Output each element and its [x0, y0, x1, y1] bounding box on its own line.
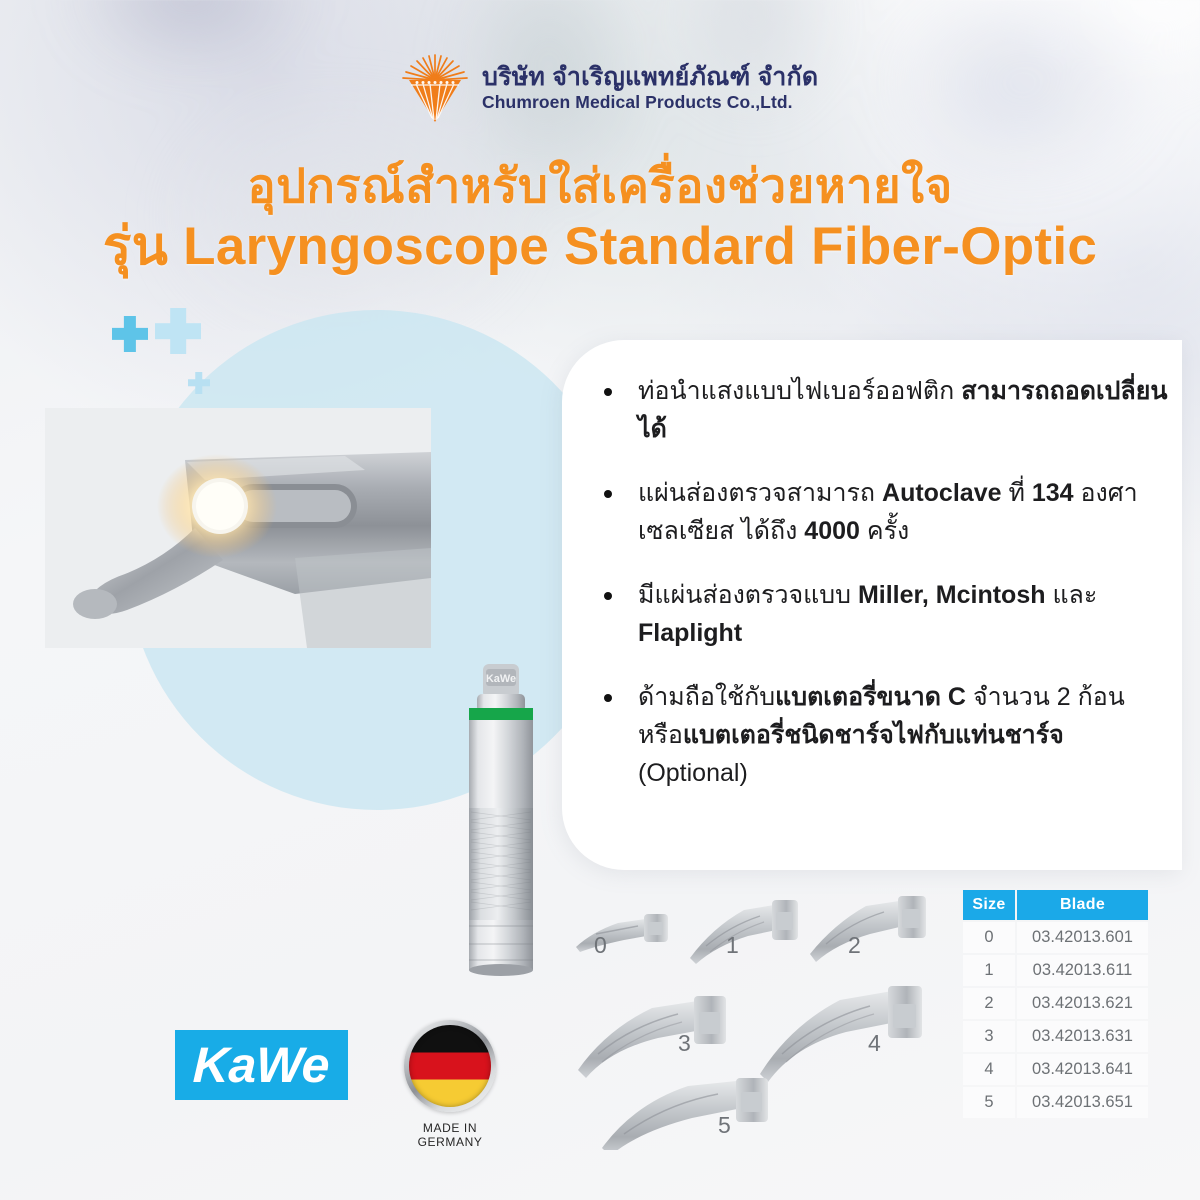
plus-cross-icon: [155, 308, 201, 354]
feature-text-bold: 4000: [804, 517, 860, 545]
cell-blade: 03.42013.651: [1017, 1087, 1148, 1118]
table-row: 3 03.42013.631: [963, 1021, 1148, 1052]
cell-size: 4: [963, 1054, 1015, 1085]
cell-blade: 03.42013.641: [1017, 1054, 1148, 1085]
blade-2: [810, 896, 926, 962]
feature-list: ท่อนำแสงแบบไฟเบอร์ออฟติก สามารถถอดเปลี่ย…: [580, 372, 1176, 818]
title-line-2: รุ่น Laryngoscope Standard Fiber-Optic: [0, 217, 1200, 276]
cell-size: 5: [963, 1087, 1015, 1118]
poster-canvas: บริษัท จำเริญแพทย์ภัณฑ์ จำกัด Chumroen M…: [0, 0, 1200, 1200]
title-line-1: อุปกรณ์สำหรับใส่เครื่องช่วยหายใจ: [0, 160, 1200, 213]
handle-illustration: KaWe: [453, 660, 549, 990]
feature-text-normal: มีแผ่นส่องตรวจแบบ: [638, 581, 858, 609]
table-row: 2 03.42013.621: [963, 988, 1148, 1019]
feature-text-bold: 134: [1032, 479, 1074, 507]
features-card: ท่อนำแสงแบบไฟเบอร์ออฟติก สามารถถอดเปลี่ย…: [562, 340, 1182, 870]
kawe-logo-text: KaWe: [193, 1040, 331, 1090]
kawe-brand-logo: KaWe: [175, 1030, 348, 1100]
blade-1: [690, 900, 798, 964]
column-header-size: Size: [963, 890, 1015, 920]
page-title: อุปกรณ์สำหรับใส่เครื่องช่วยหายใจ รุ่น La…: [0, 160, 1200, 276]
feature-text-normal: และ: [1046, 581, 1098, 609]
cell-blade: 03.42013.621: [1017, 988, 1148, 1019]
diamond-gem-icon: [400, 52, 470, 124]
list-item: ท่อนำแสงแบบไฟเบอร์ออฟติก สามารถถอดเปลี่ย…: [580, 372, 1176, 448]
made-in-germany-badge: MADE IN GERMANY: [400, 1020, 500, 1149]
laryngoscope-handle-photo: KaWe: [453, 660, 549, 990]
table-header-row: Size Blade: [963, 890, 1148, 920]
plus-cross-icon: [188, 372, 210, 394]
blade-5: [602, 1078, 768, 1150]
feature-text-normal: ที่: [1002, 479, 1032, 507]
list-item: ด้ามถือใช้กับแบตเตอรี่ขนาด C จำนวน 2 ก้อ…: [580, 678, 1176, 792]
cell-blade: 03.42013.631: [1017, 1021, 1148, 1052]
feature-text-normal: (Optional): [638, 759, 748, 787]
blade-number-label: 2: [848, 934, 861, 957]
size-blade-table: Size Blade 0 03.42013.601 1 03.42013.611…: [961, 888, 1150, 1120]
blade-light-illustration: [45, 408, 431, 648]
feature-text-bold: Autoclave: [882, 479, 1001, 507]
product-closeup-photo: [45, 408, 431, 648]
svg-text:KaWe: KaWe: [486, 673, 516, 685]
blade-3: [578, 996, 726, 1078]
german-flag-stripes: [409, 1025, 491, 1107]
list-item: แผ่นส่องตรวจสามารถ Autoclave ที่ 134 องศ…: [580, 474, 1176, 550]
feature-text-normal: แผ่นส่องตรวจสามารถ: [638, 479, 882, 507]
blade-shapes: [566, 892, 946, 1150]
feature-text-bold: แบตเตอรี่ชนิดชาร์จไฟกับแท่นชาร์จ: [683, 721, 1064, 749]
blade-4: [760, 986, 922, 1082]
list-item: มีแผ่นส่องตรวจแบบ Miller, Mcintosh และ F…: [580, 576, 1176, 652]
blade-number-label: 4: [868, 1032, 881, 1055]
feature-text-normal: ครั้ง: [860, 517, 909, 545]
blade-gallery: 0 1 2 3 4 5: [566, 892, 946, 1150]
blade-number-label: 5: [718, 1114, 731, 1137]
blade-0: [576, 914, 668, 952]
cell-size: 1: [963, 955, 1015, 986]
cell-size: 3: [963, 1021, 1015, 1052]
blade-number-label: 0: [594, 934, 607, 957]
made-in-germany-caption: MADE IN GERMANY: [400, 1121, 500, 1149]
company-logo: บริษัท จำเริญแพทย์ภัณฑ์ จำกัด Chumroen M…: [400, 52, 818, 124]
table-row: 0 03.42013.601: [963, 922, 1148, 953]
company-name-english: Chumroen Medical Products Co.,Ltd.: [482, 93, 818, 112]
plus-cross-icon: [112, 316, 148, 352]
blade-number-label: 1: [726, 934, 739, 957]
feature-text-normal: ท่อนำแสงแบบไฟเบอร์ออฟติก: [638, 377, 961, 405]
german-flag-icon: [404, 1020, 496, 1112]
feature-text-bold: Miller, Mcintosh: [858, 581, 1046, 609]
table-row: 1 03.42013.611: [963, 955, 1148, 986]
cell-size: 2: [963, 988, 1015, 1019]
cell-blade: 03.42013.601: [1017, 922, 1148, 953]
company-name-thai: บริษัท จำเริญแพทย์ภัณฑ์ จำกัด: [482, 64, 818, 92]
feature-text-bold: Flaplight: [638, 619, 742, 647]
cell-blade: 03.42013.611: [1017, 955, 1148, 986]
column-header-blade: Blade: [1017, 890, 1148, 920]
table-row: 5 03.42013.651: [963, 1087, 1148, 1118]
blade-number-label: 3: [678, 1032, 691, 1055]
feature-text-normal: ด้ามถือใช้กับ: [638, 683, 775, 711]
feature-text-bold: แบตเตอรี่ขนาด C: [775, 683, 966, 711]
cell-size: 0: [963, 922, 1015, 953]
table-row: 4 03.42013.641: [963, 1054, 1148, 1085]
